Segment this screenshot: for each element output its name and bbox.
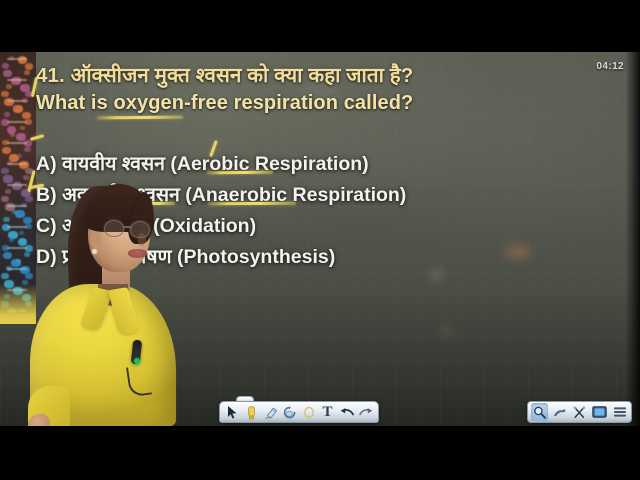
- whiteboard-right-toolbar[interactable]: [527, 401, 632, 423]
- zoom-tool-icon[interactable]: [531, 403, 548, 421]
- recording-timer: 04:12: [596, 61, 624, 72]
- highlighter-tool-icon[interactable]: [243, 403, 260, 421]
- whiteboard-main-toolbar[interactable]: T: [219, 401, 379, 423]
- letterbox-bottom-bar: [0, 426, 640, 480]
- presenter-earring: [92, 249, 97, 254]
- eraser-tool-icon[interactable]: [262, 403, 279, 421]
- video-content-area[interactable]: 41. ऑक्सीजन मुक्त श्वसन को क्या कहा जाता…: [0, 52, 640, 426]
- presenter-figure: [28, 118, 176, 426]
- letterbox-top-bar: [0, 0, 640, 52]
- presenter-nose: [138, 233, 146, 246]
- menu-tool-icon[interactable]: [611, 403, 628, 421]
- redo-tool-icon[interactable]: [357, 403, 374, 421]
- chalk-underline-anaerobic: [208, 202, 296, 206]
- text-tool-icon[interactable]: T: [319, 403, 336, 421]
- tools-tool-icon[interactable]: [571, 403, 588, 421]
- clear-page-tool-icon[interactable]: [281, 403, 298, 421]
- glasses-lens-left: [104, 220, 124, 237]
- text-tool-label: T: [322, 405, 332, 420]
- video-player-frame: 41. ऑक्सीजन मुक्त श्वसन को क्या कहा जाता…: [0, 0, 640, 480]
- undo-tool-icon[interactable]: [338, 403, 355, 421]
- presenter-ear: [90, 232, 101, 248]
- question-english: What is oxygen-free respiration called?: [36, 92, 413, 115]
- question-hindi: 41. ऑक्सीजन मुक्त श्वसन को क्या कहा जाता…: [36, 61, 413, 89]
- glasses-bridge: [123, 226, 132, 228]
- presentation-tool-icon[interactable]: [591, 403, 608, 421]
- lapel-mic-status-led: [134, 358, 140, 364]
- presenter-mouth: [128, 249, 147, 258]
- presenter-hand: [28, 414, 50, 426]
- shape-tool-icon[interactable]: [300, 403, 317, 421]
- pointer-tool-icon[interactable]: [224, 403, 241, 421]
- pan-tool-icon[interactable]: [551, 403, 568, 421]
